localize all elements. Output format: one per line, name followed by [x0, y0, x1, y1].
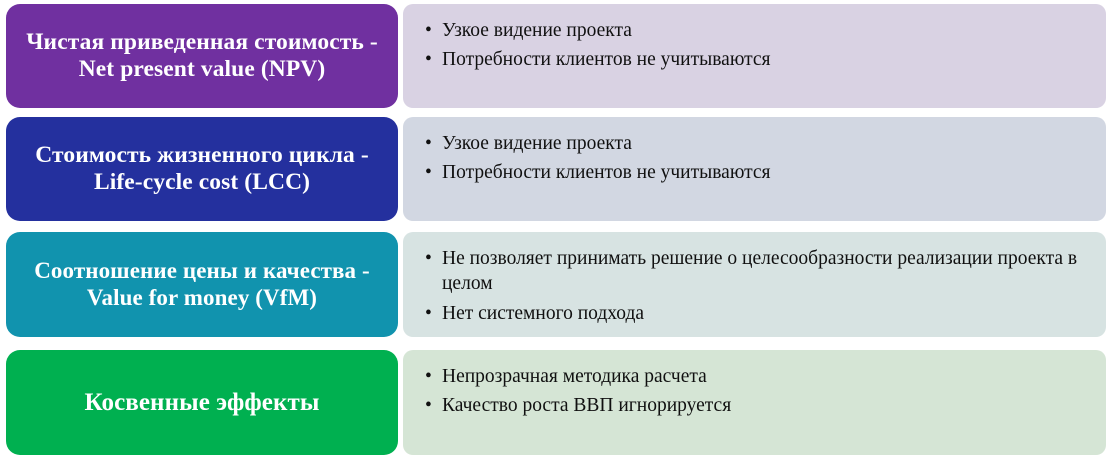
bullet-icon: •: [425, 301, 432, 326]
method-label-text: Косвенные эффекты: [16, 388, 388, 417]
bullet-icon: •: [425, 47, 432, 72]
list-item-text: Качество роста ВВП игнорируется: [442, 395, 731, 416]
list-item: • Непрозрачная методика расчета: [419, 364, 1090, 389]
list-item-text: Потребности клиентов не учитываются: [442, 49, 771, 70]
bullet-icon: •: [425, 246, 432, 271]
diagram-row: Чистая приведенная стоимость - Net prese…: [0, 4, 1110, 108]
limitations-panel-npv: • Узкое видение проекта • Потребности кл…: [403, 4, 1106, 108]
method-label-box-vfm[interactable]: Соотношение цены и качества - Value for …: [6, 232, 398, 337]
list-item: • Потребности клиентов не учитываются: [419, 160, 1090, 185]
list-item-text: Не позволяет принимать решение о целесоо…: [442, 248, 1077, 294]
limitations-list: • Узкое видение проекта • Потребности кл…: [419, 18, 1090, 73]
method-label-box-indirect-effects[interactable]: Косвенные эффекты: [6, 350, 398, 455]
limitations-list: • Не позволяет принимать решение о целес…: [419, 246, 1090, 326]
bullet-icon: •: [425, 18, 432, 43]
method-label-text: Соотношение цены и качества - Value for …: [16, 258, 388, 311]
method-label-text: Чистая приведенная стоимость - Net prese…: [16, 29, 388, 84]
list-item-text: Нет системного подхода: [442, 303, 644, 324]
bullet-icon: •: [425, 160, 432, 185]
bullet-icon: •: [425, 364, 432, 389]
method-label-text: Стоимость жизненного цикла - Life-cycle …: [16, 142, 388, 197]
diagram-row: Косвенные эффекты • Непрозрачная методик…: [0, 350, 1110, 455]
list-item: • Узкое видение проекта: [419, 131, 1090, 156]
method-label-box-lcc[interactable]: Стоимость жизненного цикла - Life-cycle …: [6, 117, 398, 221]
list-item: • Потребности клиентов не учитываются: [419, 47, 1090, 72]
list-item-text: Узкое видение проекта: [442, 20, 632, 41]
diagram-row: Соотношение цены и качества - Value for …: [0, 232, 1110, 337]
limitations-list: • Непрозрачная методика расчета • Качест…: [419, 364, 1090, 419]
list-item: • Не позволяет принимать решение о целес…: [419, 246, 1090, 297]
limitations-list: • Узкое видение проекта • Потребности кл…: [419, 131, 1090, 186]
list-item: • Узкое видение проекта: [419, 18, 1090, 43]
bullet-icon: •: [425, 131, 432, 156]
method-label-box-npv[interactable]: Чистая приведенная стоимость - Net prese…: [6, 4, 398, 108]
list-item-text: Узкое видение проекта: [442, 133, 632, 154]
bullet-icon: •: [425, 393, 432, 418]
limitations-panel-vfm: • Не позволяет принимать решение о целес…: [403, 232, 1106, 337]
methods-limitations-diagram: Чистая приведенная стоимость - Net prese…: [0, 0, 1110, 459]
limitations-panel-lcc: • Узкое видение проекта • Потребности кл…: [403, 117, 1106, 221]
list-item: • Качество роста ВВП игнорируется: [419, 393, 1090, 418]
diagram-row: Стоимость жизненного цикла - Life-cycle …: [0, 117, 1110, 221]
list-item-text: Непрозрачная методика расчета: [442, 366, 707, 387]
list-item: • Нет системного подхода: [419, 301, 1090, 326]
limitations-panel-indirect-effects: • Непрозрачная методика расчета • Качест…: [403, 350, 1106, 455]
list-item-text: Потребности клиентов не учитываются: [442, 162, 771, 183]
